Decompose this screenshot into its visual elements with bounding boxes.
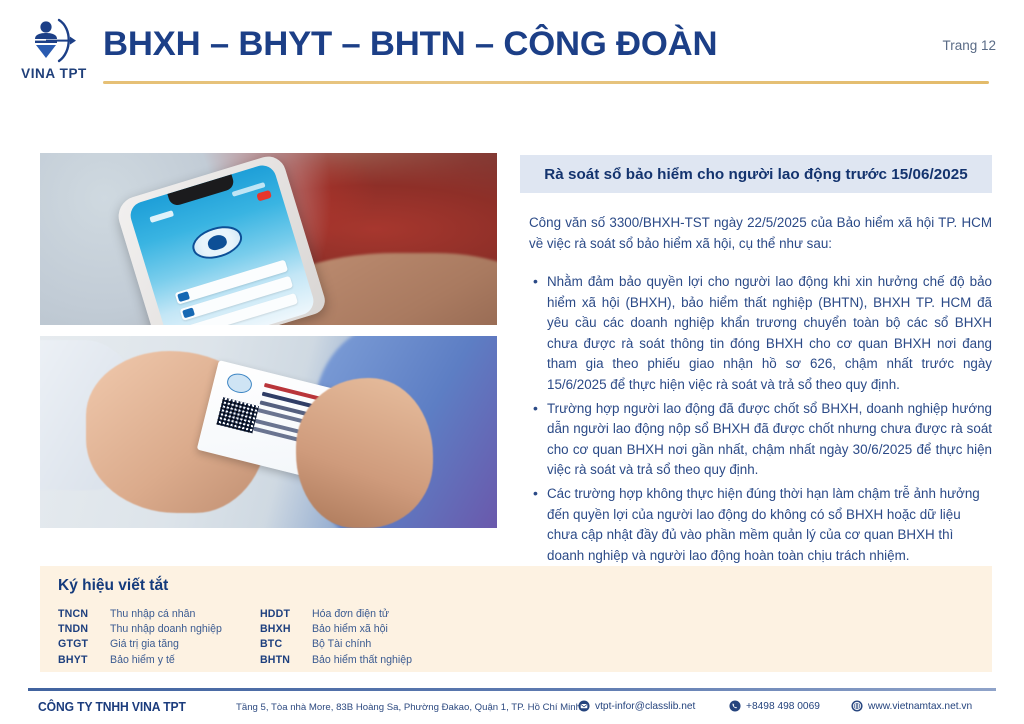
abbr-code: BHYT — [58, 654, 110, 666]
qr-code — [216, 397, 258, 433]
footer-email-text: vtpt-infor@classlib.net — [595, 701, 695, 712]
section-title-banner: Rà soát sổ bảo hiểm cho người lao động t… — [520, 155, 992, 193]
abbr-meaning: Bảo hiểm thất nghiệp — [312, 654, 412, 666]
abbr-code: GTGT — [58, 638, 110, 650]
abbr-code: HDDT — [260, 608, 312, 620]
slide-page: VINA TPT BHXH – BHYT – BHTN – CÔNG ĐOÀN … — [0, 0, 1024, 724]
photo-hands-exchanging-card — [40, 336, 497, 528]
abbr-code: BHXH — [260, 623, 312, 635]
footer-address: Tầng 5, Tòa nhà More, 83B Hoàng Sa, Phườ… — [236, 702, 581, 713]
brand-name: VINA TPT — [18, 67, 90, 81]
header-accent-rule — [103, 81, 989, 84]
abbr-meaning: Bảo hiểm y tế — [110, 654, 175, 666]
page-title: BHXH – BHYT – BHTN – CÔNG ĐOÀN — [103, 25, 717, 64]
abbreviations-title: Ký hiệu viết tắt — [58, 577, 168, 595]
phone-statusbar-time — [149, 210, 174, 222]
footer-website-text: www.vietnamtax.net.vn — [868, 701, 972, 712]
list-item: TNDN Thu nhập doanh nghiệp — [58, 623, 222, 635]
list-item: Các trường hợp không thực hiện đúng thời… — [529, 484, 992, 566]
globe-icon — [851, 700, 863, 712]
section-lead-paragraph: Công văn số 3300/BHXH-TST ngày 22/5/2025… — [529, 212, 992, 254]
vssid-app-emblem-icon — [188, 220, 246, 263]
list-item: TNCN Thu nhập cá nhân — [58, 608, 222, 620]
list-item: GTGT Giá trị gia tăng — [58, 638, 222, 650]
footer-phone-text: +8498 498 0069 — [746, 701, 820, 712]
section-bullet-list: Nhằm đảm bảo quyền lợi cho người lao độn… — [529, 272, 992, 569]
abbr-meaning: Giá trị gia tăng — [110, 638, 179, 650]
photo-hand-holding-smartphone — [40, 153, 497, 325]
footer-company-name: CÔNG TY TNHH VINA TPT — [38, 700, 186, 714]
list-item: BHTN Bảo hiểm thất nghiệp — [260, 654, 412, 666]
card-emblem-icon — [225, 372, 254, 396]
abbr-code: BHTN — [260, 654, 312, 666]
phone-record-badge — [256, 190, 271, 201]
abbr-meaning: Thu nhập cá nhân — [110, 608, 195, 620]
list-item: BTC Bộ Tài chính — [260, 638, 412, 650]
abbr-code: BTC — [260, 638, 312, 650]
hand-receiving — [296, 378, 433, 528]
footer-divider — [28, 688, 996, 691]
vina-tpt-archer-logo-icon — [26, 18, 82, 64]
list-item: BHYT Bảo hiểm y tế — [58, 654, 222, 666]
list-item: Trường hợp người lao động đã được chốt s… — [529, 399, 992, 481]
envelope-icon — [578, 700, 590, 712]
footer-phone[interactable]: +8498 498 0069 — [729, 700, 820, 712]
list-item: BHXH Bảo hiểm xã hội — [260, 623, 412, 635]
abbreviations-columns: TNCN Thu nhập cá nhân TNDN Thu nhập doan… — [58, 608, 412, 666]
abbr-meaning: Thu nhập doanh nghiệp — [110, 623, 222, 635]
abbr-meaning: Bộ Tài chính — [312, 638, 371, 650]
footer-website[interactable]: www.vietnamtax.net.vn — [851, 700, 972, 712]
footer-email[interactable]: vtpt-infor@classlib.net — [578, 700, 695, 712]
list-item: HDDT Hóa đơn điện tử — [260, 608, 412, 620]
abbreviations-column-left: TNCN Thu nhập cá nhân TNDN Thu nhập doan… — [58, 608, 222, 666]
page-header: VINA TPT BHXH – BHYT – BHTN – CÔNG ĐOÀN … — [0, 0, 1024, 100]
phone-icon — [729, 700, 741, 712]
page-footer: CÔNG TY TNHH VINA TPT Tầng 5, Tòa nhà Mo… — [0, 697, 1024, 723]
abbreviations-column-right: HDDT Hóa đơn điện tử BHXH Bảo hiểm xã hộ… — [260, 608, 412, 666]
list-item: Nhằm đảm bảo quyền lợi cho người lao độn… — [529, 272, 992, 396]
abbr-meaning: Bảo hiểm xã hội — [312, 623, 388, 635]
abbreviations-box: Ký hiệu viết tắt TNCN Thu nhập cá nhân T… — [40, 566, 992, 672]
abbr-code: TNCN — [58, 608, 110, 620]
page-number: Trang 12 — [942, 38, 996, 53]
abbr-meaning: Hóa đơn điện tử — [312, 608, 389, 620]
brand-block: VINA TPT — [18, 18, 90, 81]
abbr-code: TNDN — [58, 623, 110, 635]
